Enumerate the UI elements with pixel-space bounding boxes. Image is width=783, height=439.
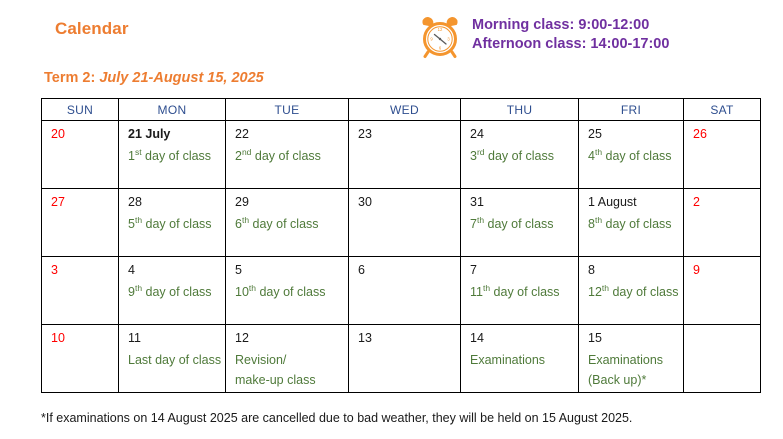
calendar-day-cell[interactable]: 14Examinations [461, 325, 579, 393]
svg-text:12: 12 [438, 27, 443, 32]
day-note-text: (Back up)* [588, 373, 646, 387]
day-cell-content: 243rd day of class [461, 121, 578, 188]
day-cell-content: 254th day of class [579, 121, 683, 188]
day-note-line: Last day of class [128, 350, 225, 370]
day-note-line: 5th day of class [128, 214, 225, 234]
footnote: *If examinations on 14 August 2025 are c… [41, 411, 632, 425]
day-number: 9 [693, 263, 760, 278]
alarm-clock-icon: 12 3 6 9 [417, 15, 463, 59]
day-number: 31 [470, 195, 578, 210]
svg-text:3: 3 [447, 37, 450, 42]
day-note: 7th day of class [470, 214, 578, 234]
calendar-day-cell[interactable]: 254th day of class [579, 121, 684, 189]
calendar-day-cell[interactable]: 711th day of class [461, 257, 579, 325]
weekday-header-mon: MON [119, 99, 226, 121]
calendar-day-cell[interactable]: 317th day of class [461, 189, 579, 257]
weekday-header-fri: FRI [579, 99, 684, 121]
day-note-text: Last day of class [128, 353, 221, 367]
morning-class-time: Morning class: 9:00-12:00 [472, 16, 669, 34]
day-cell-content: 222nd day of class [226, 121, 348, 188]
ordinal-number: 1 [128, 149, 135, 163]
day-cell-content: 13 [349, 325, 460, 392]
calendar-day-cell[interactable]: 296th day of class [226, 189, 349, 257]
day-cell-content: 711th day of class [461, 257, 578, 324]
svg-text:6: 6 [439, 46, 442, 51]
day-note-text: Revision/ [235, 353, 286, 367]
ordinal-suffix: th [135, 283, 142, 293]
day-number: 4 [128, 263, 225, 278]
day-cell-content: 14Examinations [461, 325, 578, 392]
day-cell-content: 2 [684, 189, 760, 256]
ordinal-number: 5 [128, 217, 135, 231]
ordinal-suffix: th [477, 215, 484, 225]
term-title: Term 2: July 21-August 15, 2025 [44, 70, 264, 86]
calendar-day-cell[interactable] [684, 325, 761, 393]
day-cell-content: 26 [684, 121, 760, 188]
day-note-line: 10th day of class [235, 282, 348, 302]
day-note-line: Examinations [588, 350, 683, 370]
day-note-line: Revision/ [235, 350, 348, 370]
day-cell-content: 6 [349, 257, 460, 324]
day-note-text: day of class [484, 217, 553, 231]
day-number: 1 August [588, 195, 683, 210]
day-note-line: (Back up)* [588, 370, 683, 390]
day-number: 21 July [128, 127, 225, 142]
ordinal-number: 4 [588, 149, 595, 163]
day-number: 15 [588, 331, 683, 346]
calendar-day-cell[interactable]: 510th day of class [226, 257, 349, 325]
day-note-text: day of class [249, 217, 318, 231]
calendar-day-cell[interactable]: 27 [42, 189, 119, 257]
day-note-line: 12th day of class [588, 282, 683, 302]
day-number: 14 [470, 331, 578, 346]
day-cell-content: 10 [42, 325, 118, 392]
day-note-text: day of class [142, 217, 211, 231]
calendar-week-row: 1011Last day of class12Revision/make-up … [42, 325, 761, 393]
calendar-day-cell[interactable]: 11Last day of class [119, 325, 226, 393]
day-number: 13 [358, 331, 460, 346]
day-note: 12th day of class [588, 282, 683, 302]
day-cell-content: 21 July1st day of class [119, 121, 225, 188]
day-cell-content: 317th day of class [461, 189, 578, 256]
day-cell-content [684, 325, 760, 392]
day-cell-content: 9 [684, 257, 760, 324]
day-note-line: 11th day of class [470, 282, 578, 302]
ordinal-number: 9 [128, 285, 135, 299]
day-number: 27 [51, 195, 118, 210]
calendar-day-cell[interactable]: 30 [349, 189, 461, 257]
ordinal-suffix: th [595, 147, 602, 157]
day-number: 22 [235, 127, 348, 142]
day-number: 3 [51, 263, 118, 278]
calendar-day-cell[interactable]: 10 [42, 325, 119, 393]
weekday-header-sun: SUN [42, 99, 119, 121]
calendar-day-cell[interactable]: 12Revision/make-up class [226, 325, 349, 393]
day-note-line: 9th day of class [128, 282, 225, 302]
day-cell-content: 1 August8th day of class [579, 189, 683, 256]
day-note-text: day of class [251, 149, 320, 163]
day-cell-content: 510th day of class [226, 257, 348, 324]
day-note: Examinations [470, 350, 578, 370]
page-title: Calendar [55, 19, 129, 39]
term-label: Term 2: [44, 70, 95, 86]
calendar-day-cell[interactable]: 285th day of class [119, 189, 226, 257]
day-note: 3rd day of class [470, 146, 578, 166]
day-number: 26 [693, 127, 760, 142]
day-note-text: day of class [142, 285, 211, 299]
day-number: 7 [470, 263, 578, 278]
day-number: 20 [51, 127, 118, 142]
day-cell-content: 23 [349, 121, 460, 188]
ordinal-number: 10 [235, 285, 249, 299]
day-note: 10th day of class [235, 282, 348, 302]
afternoon-class-time: Afternoon class: 14:00-17:00 [472, 35, 669, 53]
day-note-text: day of class [609, 285, 678, 299]
day-number: 5 [235, 263, 348, 278]
calendar-day-cell[interactable]: 49th day of class [119, 257, 226, 325]
weekday-header-wed: WED [349, 99, 461, 121]
ordinal-number: 7 [470, 217, 477, 231]
weekday-header-tue: TUE [226, 99, 349, 121]
day-cell-content: 285th day of class [119, 189, 225, 256]
ordinal-suffix: rd [477, 147, 485, 157]
day-number: 8 [588, 263, 683, 278]
ordinal-suffix: th [242, 215, 249, 225]
calendar-day-cell[interactable]: 243rd day of class [461, 121, 579, 189]
day-note: 8th day of class [588, 214, 683, 234]
calendar-week-row: 2021 July1st day of class222nd day of cl… [42, 121, 761, 189]
day-cell-content: 30 [349, 189, 460, 256]
ordinal-suffix: st [135, 147, 142, 157]
day-note-line: 1st day of class [128, 146, 225, 166]
day-note: Examinations(Back up)* [588, 350, 683, 390]
day-cell-content: 27 [42, 189, 118, 256]
day-note-text: day of class [256, 285, 325, 299]
calendar-day-cell[interactable]: 26 [684, 121, 761, 189]
day-note-line: 2nd day of class [235, 146, 348, 166]
calendar-day-cell[interactable]: 15Examinations(Back up)* [579, 325, 684, 393]
class-times-block: 12 3 6 9 Morning class: 9:00-12:00 After… [417, 14, 669, 59]
weekday-header-sat: SAT [684, 99, 761, 121]
day-note-text: day of class [602, 149, 671, 163]
day-cell-content: 49th day of class [119, 257, 225, 324]
day-cell-content: 812th day of class [579, 257, 683, 324]
ordinal-number: 6 [235, 217, 242, 231]
day-note: 4th day of class [588, 146, 683, 166]
day-note: 1st day of class [128, 146, 225, 166]
ordinal-number: 11 [470, 285, 483, 299]
weekday-header-row: SUNMONTUEWEDTHUFRISAT [42, 99, 761, 121]
day-note-text: day of class [485, 149, 554, 163]
day-note: 6th day of class [235, 214, 348, 234]
calendar-day-cell[interactable]: 21 July1st day of class [119, 121, 226, 189]
weekday-header-thu: THU [461, 99, 579, 121]
day-note: Last day of class [128, 350, 225, 370]
day-note: 11th day of class [470, 282, 578, 302]
day-cell-content: 296th day of class [226, 189, 348, 256]
term-date-range: July 21-August 15, 2025 [99, 70, 263, 86]
ordinal-suffix: th [135, 215, 142, 225]
calendar-day-cell[interactable]: 23 [349, 121, 461, 189]
day-number: 29 [235, 195, 348, 210]
day-note-text: day of class [602, 217, 671, 231]
calendar-day-cell[interactable]: 1 August8th day of class [579, 189, 684, 257]
ordinal-suffix: th [483, 283, 490, 293]
day-note: 5th day of class [128, 214, 225, 234]
day-cell-content: 11Last day of class [119, 325, 225, 392]
day-number: 11 [128, 331, 225, 346]
day-note-text: Examinations [588, 353, 663, 367]
ordinal-suffix: th [249, 283, 256, 293]
calendar-day-cell[interactable]: 812th day of class [579, 257, 684, 325]
calendar-day-cell[interactable]: 3 [42, 257, 119, 325]
day-cell-content: 12Revision/make-up class [226, 325, 348, 392]
day-number: 25 [588, 127, 683, 142]
calendar-day-cell[interactable]: 13 [349, 325, 461, 393]
calendar-day-cell[interactable]: 2 [684, 189, 761, 257]
day-note-line: 4th day of class [588, 146, 683, 166]
day-note: 9th day of class [128, 282, 225, 302]
day-number: 28 [128, 195, 225, 210]
day-note-text: day of class [490, 285, 559, 299]
day-note-line: 8th day of class [588, 214, 683, 234]
ordinal-number: 8 [588, 217, 595, 231]
calendar-week-row: 27285th day of class296th day of class30… [42, 189, 761, 257]
day-number: 2 [693, 195, 760, 210]
day-cell-content: 15Examinations(Back up)* [579, 325, 683, 392]
day-note: 2nd day of class [235, 146, 348, 166]
day-cell-content: 20 [42, 121, 118, 188]
day-note-text: Examinations [470, 353, 545, 367]
calendar-day-cell[interactable]: 222nd day of class [226, 121, 349, 189]
day-number: 24 [470, 127, 578, 142]
day-note: Revision/make-up class [235, 350, 348, 390]
day-cell-content: 3 [42, 257, 118, 324]
calendar-week-row: 349th day of class510th day of class6711… [42, 257, 761, 325]
calendar-day-cell[interactable]: 20 [42, 121, 119, 189]
day-number: 30 [358, 195, 460, 210]
day-number: 12 [235, 331, 348, 346]
day-note-line: 6th day of class [235, 214, 348, 234]
svg-text:9: 9 [430, 37, 433, 42]
ordinal-number: 12 [588, 285, 602, 299]
class-times-text: Morning class: 9:00-12:00 Afternoon clas… [472, 14, 669, 53]
ordinal-suffix: th [595, 215, 602, 225]
day-note-line: Examinations [470, 350, 578, 370]
calendar-page: Calendar 12 3 6 9 [0, 0, 783, 439]
calendar-day-cell[interactable]: 6 [349, 257, 461, 325]
calendar-table: SUNMONTUEWEDTHUFRISAT 2021 July1st day o… [41, 98, 761, 393]
ordinal-number: 3 [470, 149, 477, 163]
day-note-text: make-up class [235, 373, 316, 387]
day-note-line: 7th day of class [470, 214, 578, 234]
day-note-text: day of class [142, 149, 211, 163]
ordinal-number: 2 [235, 149, 242, 163]
day-number: 23 [358, 127, 460, 142]
day-number: 6 [358, 263, 460, 278]
day-number: 10 [51, 331, 118, 346]
ordinal-suffix: th [602, 283, 609, 293]
day-note-line: make-up class [235, 370, 348, 390]
day-note-line: 3rd day of class [470, 146, 578, 166]
calendar-day-cell[interactable]: 9 [684, 257, 761, 325]
ordinal-suffix: nd [242, 147, 251, 157]
